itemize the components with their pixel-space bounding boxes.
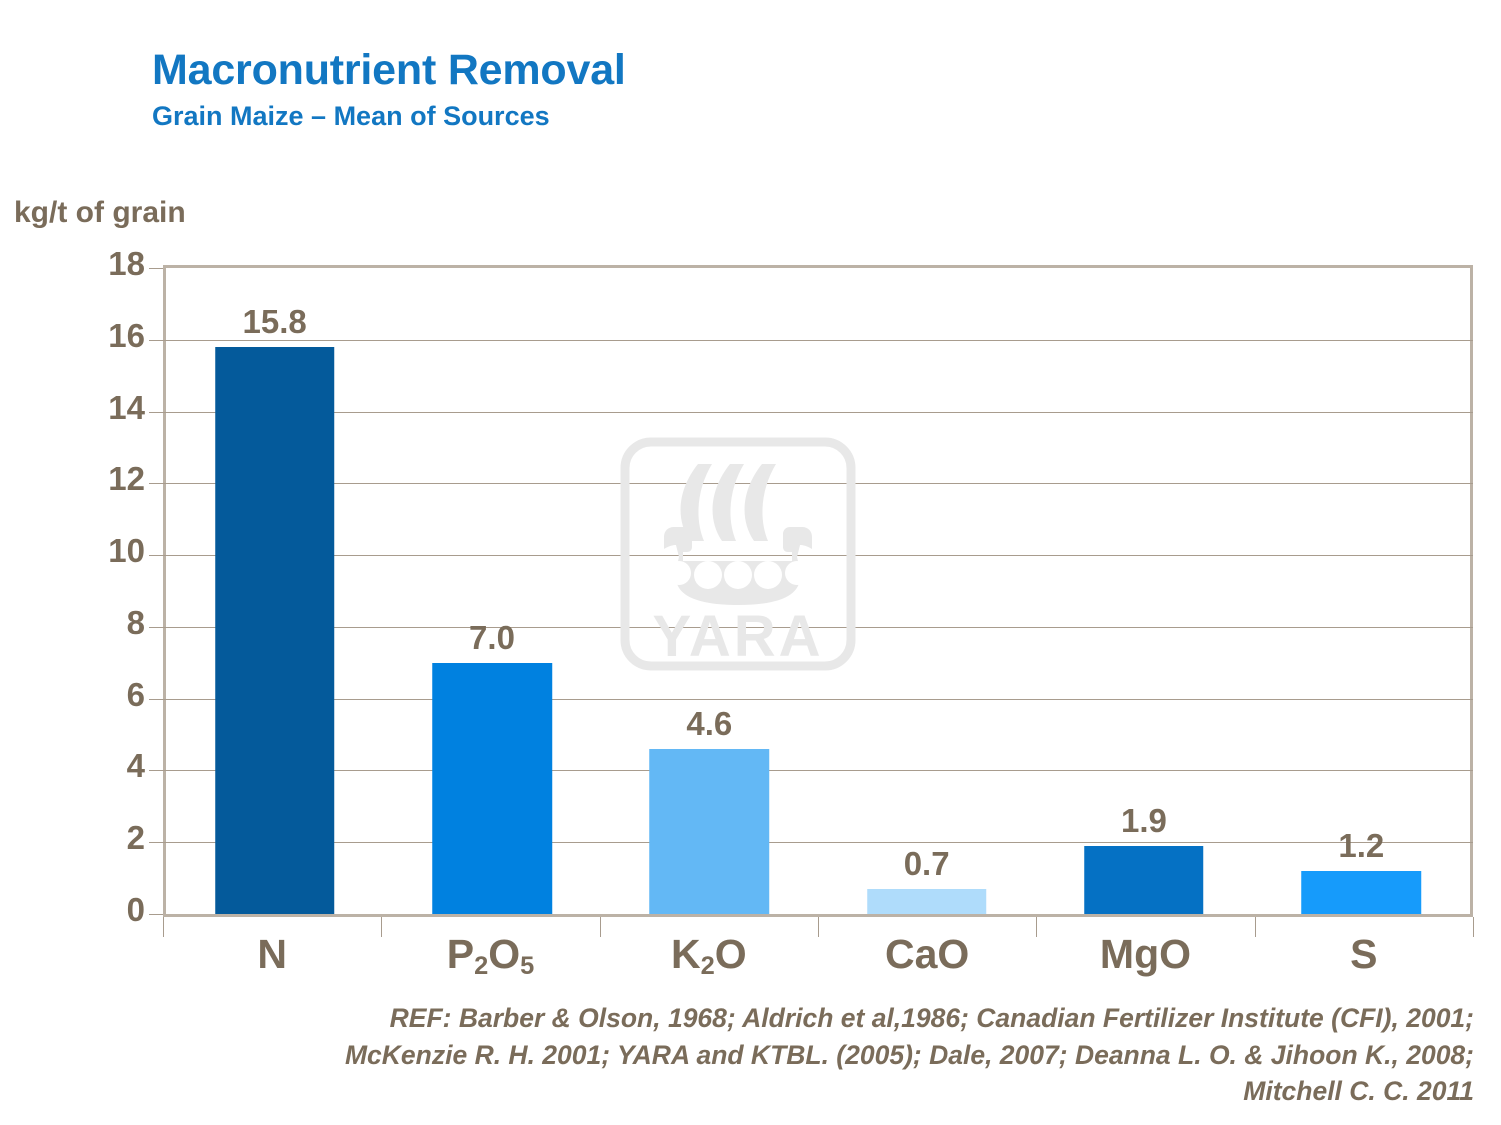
bar-chart: YARA 15.87.04.60.71.91.2 — [163, 265, 1473, 917]
chart-title-block: Macronutrient Removal Grain Maize – Mean… — [152, 48, 1352, 130]
bar-value-label: 0.7 — [904, 845, 950, 883]
page-subtitle: Grain Maize – Mean of Sources — [152, 102, 1352, 130]
bar-slot: 7.0 — [383, 268, 600, 914]
y-tick-label: 6 — [60, 676, 145, 714]
y-tick-mark — [149, 770, 163, 771]
bar-value-label: 15.8 — [243, 303, 307, 341]
y-tick-label: 10 — [60, 532, 145, 570]
y-tick-label: 2 — [60, 819, 145, 857]
y-tick-label: 4 — [60, 747, 145, 785]
y-tick-label: 14 — [60, 389, 145, 427]
page-title: Macronutrient Removal — [152, 48, 1352, 93]
y-tick-mark — [149, 555, 163, 556]
reference-line-2: McKenzie R. H. 2001; YARA and KTBL. (200… — [40, 1037, 1480, 1074]
bar-slot: 15.8 — [166, 268, 383, 914]
x-axis-label-P2O5: P2O5 — [381, 931, 599, 978]
x-axis-label-K2O: K2O — [600, 931, 818, 978]
bars-layer: 15.87.04.60.71.91.2 — [166, 268, 1470, 914]
y-tick-mark — [149, 914, 163, 915]
bar-K2O[interactable] — [650, 749, 770, 914]
x-axis-labels: NP2O5K2OCaOMgOS — [163, 931, 1473, 978]
y-tick-label: 12 — [60, 460, 145, 498]
y-tick-mark — [149, 483, 163, 484]
bar-P2O5[interactable] — [432, 663, 552, 914]
x-axis-label-N: N — [163, 931, 381, 978]
reference-footer: REF: Barber & Olson, 1968; Aldrich et al… — [40, 1000, 1480, 1110]
bar-value-label: 1.2 — [1338, 827, 1384, 865]
y-tick-label: 0 — [60, 891, 145, 929]
bar-CaO[interactable] — [867, 889, 987, 914]
bar-slot: 1.2 — [1253, 268, 1470, 914]
y-tick-mark — [149, 842, 163, 843]
bar-value-label: 1.9 — [1121, 802, 1167, 840]
y-axis-unit-label: kg/t of grain — [14, 196, 186, 230]
reference-line-3: Mitchell C. C. 2011 — [40, 1073, 1480, 1110]
y-tick-mark — [149, 412, 163, 413]
y-tick-mark — [149, 340, 163, 341]
x-tick-mark — [1473, 917, 1474, 937]
x-axis-label-CaO: CaO — [818, 931, 1036, 978]
bar-value-label: 7.0 — [469, 619, 515, 657]
y-tick-label: 16 — [60, 317, 145, 355]
bar-slot: 4.6 — [601, 268, 818, 914]
y-tick-mark — [149, 627, 163, 628]
x-axis-label-MgO: MgO — [1036, 931, 1254, 978]
y-tick-mark — [149, 268, 163, 269]
x-axis-label-S: S — [1255, 931, 1473, 978]
bar-slot: 0.7 — [818, 268, 1035, 914]
bar-value-label: 4.6 — [686, 705, 732, 743]
reference-line-1: REF: Barber & Olson, 1968; Aldrich et al… — [40, 1000, 1480, 1037]
bar-S[interactable] — [1302, 871, 1422, 914]
y-tick-label: 18 — [60, 245, 145, 283]
bar-N[interactable] — [215, 347, 335, 914]
bar-MgO[interactable] — [1084, 846, 1204, 914]
y-tick-label: 8 — [60, 604, 145, 642]
bar-slot: 1.9 — [1035, 268, 1252, 914]
y-tick-mark — [149, 699, 163, 700]
